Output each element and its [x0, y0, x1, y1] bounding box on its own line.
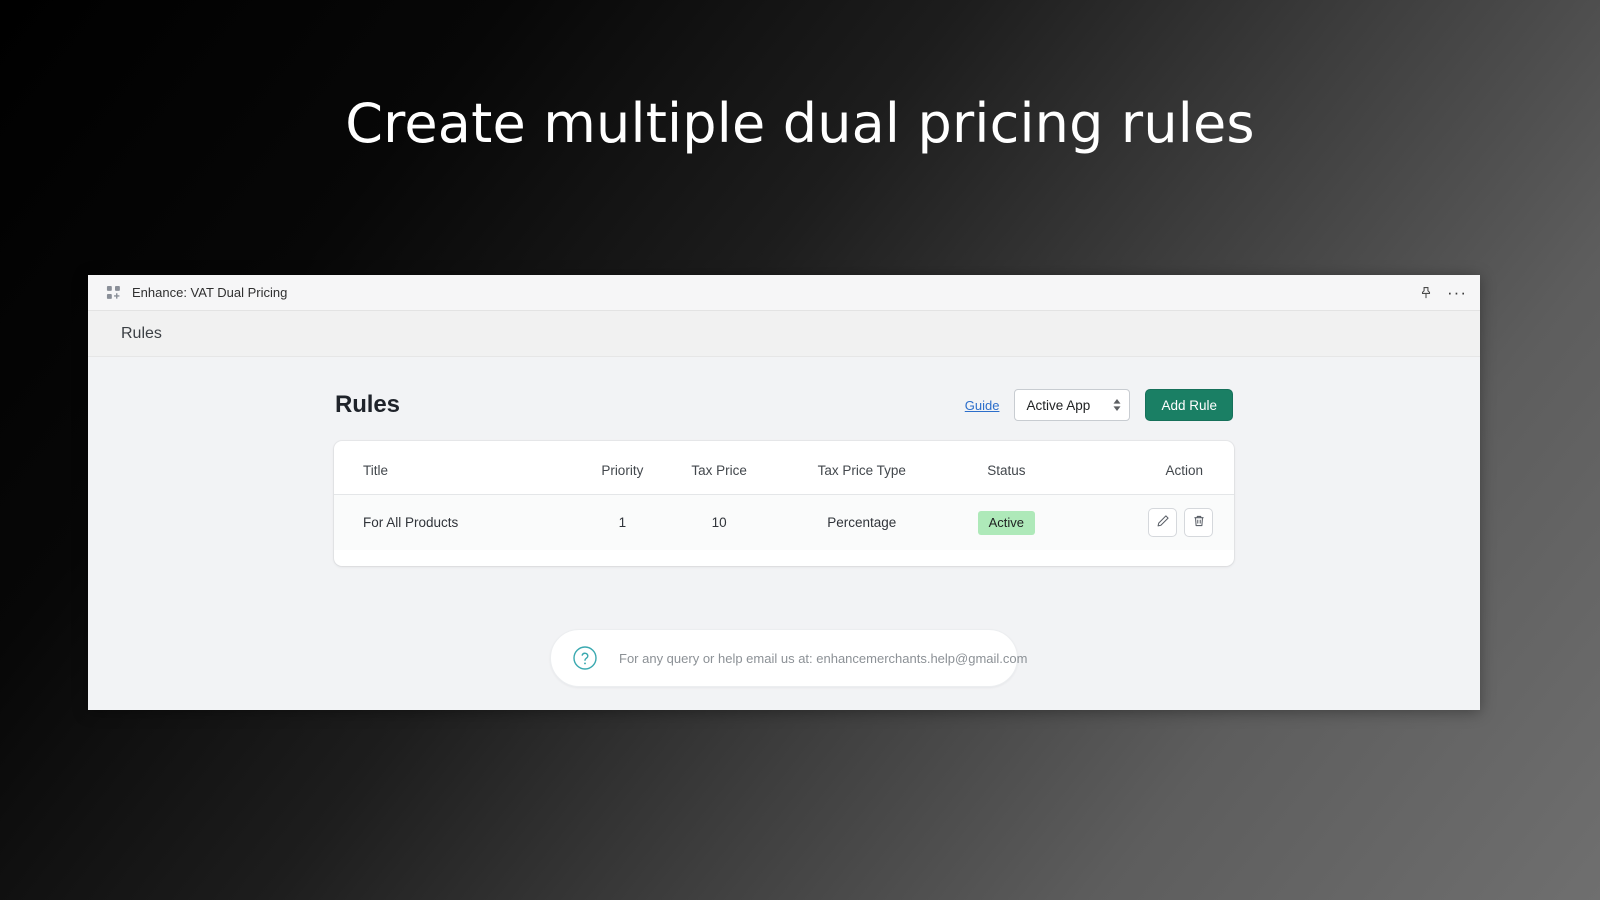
column-header-title: Title [334, 441, 581, 495]
column-header-priority: Priority [581, 441, 664, 495]
headline: Create multiple dual pricing rules [0, 92, 1600, 155]
app-status-select-value: Active App [1026, 398, 1090, 413]
more-options-icon[interactable]: ··· [1448, 284, 1466, 302]
delete-rule-button[interactable] [1184, 508, 1213, 537]
pushpin-icon[interactable] [1417, 284, 1435, 302]
page-title: Rules [335, 391, 400, 419]
question-circle-icon [572, 645, 598, 671]
column-header-tax-price-type: Tax Price Type [774, 441, 949, 495]
slide-stage: Create multiple dual pricing rules Enhan… [0, 0, 1600, 900]
help-text: For any query or help email us at: enhan… [619, 651, 1027, 666]
header-actions: Guide Active App Add Rule [965, 389, 1233, 421]
help-bar: For any query or help email us at: enhan… [550, 629, 1018, 687]
add-rule-button[interactable]: Add Rule [1145, 389, 1233, 421]
table-header-row: Title Priority Tax Price Tax Price Type … [334, 441, 1234, 495]
breadcrumb: Rules [121, 325, 162, 343]
rules-table: Title Priority Tax Price Tax Price Type … [334, 441, 1234, 550]
page-header: Rules Guide Active App Add Rule [334, 389, 1234, 421]
chevron-updown-icon [1113, 399, 1121, 411]
column-header-status: Status [949, 441, 1063, 495]
page-container: Rules Guide Active App Add Rule [334, 389, 1234, 687]
table-head: Title Priority Tax Price Tax Price Type … [334, 441, 1234, 495]
window-title: Enhance: VAT Dual Pricing [132, 285, 287, 300]
app-window: Enhance: VAT Dual Pricing ··· Rules Rule… [88, 275, 1480, 710]
cell-title: For All Products [334, 495, 581, 551]
window-titlebar: Enhance: VAT Dual Pricing ··· [88, 275, 1480, 311]
pencil-icon [1156, 514, 1170, 531]
table-body: For All Products 1 10 Percentage Active [334, 495, 1234, 551]
app-status-select[interactable]: Active App [1014, 389, 1130, 421]
titlebar-right-group: ··· [1417, 284, 1466, 302]
row-action-group [1148, 508, 1213, 537]
page-topbar: Rules [88, 311, 1480, 357]
status-badge: Active [978, 511, 1035, 535]
table-row[interactable]: For All Products 1 10 Percentage Active [334, 495, 1234, 551]
trash-icon [1192, 514, 1206, 531]
cell-tax-price-type: Percentage [774, 495, 949, 551]
edit-rule-button[interactable] [1148, 508, 1177, 537]
cell-status: Active [949, 495, 1063, 551]
column-header-action: Action [1063, 441, 1234, 495]
titlebar-left-group: Enhance: VAT Dual Pricing [106, 285, 1417, 300]
cell-tax-price: 10 [664, 495, 774, 551]
rules-card: Title Priority Tax Price Tax Price Type … [334, 441, 1234, 566]
column-header-tax-price: Tax Price [664, 441, 774, 495]
cell-action [1063, 495, 1234, 551]
apps-grid-add-icon [106, 285, 121, 300]
guide-link[interactable]: Guide [965, 398, 1000, 413]
page-content: Rules Guide Active App Add Rule [88, 357, 1480, 710]
cell-priority: 1 [581, 495, 664, 551]
